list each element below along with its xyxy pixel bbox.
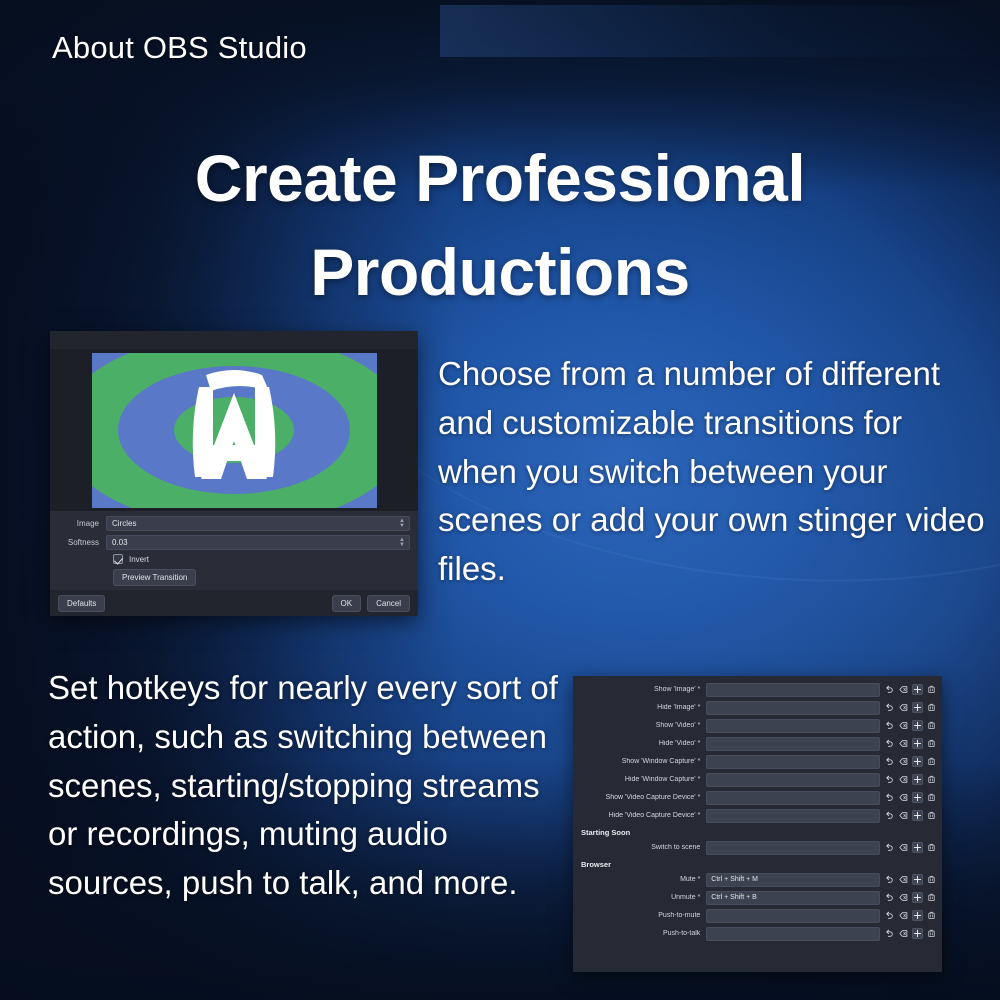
hotkey-input[interactable] (706, 755, 880, 769)
hero-line-2: Productions (0, 226, 1000, 320)
hotkey-section-title: Starting Soon (578, 825, 937, 839)
hotkey-actions (884, 910, 937, 921)
hotkey-input[interactable] (706, 719, 880, 733)
hotkey-label: Push-to-talk (578, 930, 706, 937)
preview-transition-button[interactable]: Preview Transition (113, 569, 196, 586)
spinner-updown-icon[interactable]: ▲▼ (398, 537, 406, 548)
hotkey-actions (884, 842, 937, 853)
clear-icon[interactable] (898, 928, 909, 939)
hotkey-actions (884, 720, 937, 731)
clear-icon[interactable] (898, 738, 909, 749)
add-icon[interactable] (912, 720, 923, 731)
hotkey-input[interactable]: Ctrl + Shift + B (706, 891, 880, 905)
hotkey-row: Unmute *Ctrl + Shift + B (578, 889, 937, 906)
clear-icon[interactable] (898, 842, 909, 853)
revert-icon[interactable] (884, 792, 895, 803)
hotkey-label: Show 'Image' * (578, 686, 706, 693)
softness-row: Softness 0.03 ▲▼ (58, 535, 410, 550)
delete-icon[interactable] (926, 738, 937, 749)
hotkey-label: Hide 'Video' * (578, 740, 706, 747)
delete-icon[interactable] (926, 810, 937, 821)
revert-icon[interactable] (884, 774, 895, 785)
softness-value: 0.03 (112, 538, 128, 547)
add-icon[interactable] (912, 738, 923, 749)
hotkey-actions (884, 892, 937, 903)
hotkey-row: Hide 'Image' * (578, 699, 937, 716)
hotkey-input[interactable] (706, 809, 880, 823)
transition-properties-dialog: Image Circles ▲▼ Softness 0.03 ▲▼ Invert… (50, 331, 418, 616)
clear-icon[interactable] (898, 684, 909, 695)
delete-icon[interactable] (926, 910, 937, 921)
hotkey-row: Hide 'Window Capture' * (578, 771, 937, 788)
hotkey-label: Show 'Video Capture Device' * (578, 794, 706, 801)
softness-label: Softness (58, 538, 106, 547)
delete-icon[interactable] (926, 892, 937, 903)
clear-icon[interactable] (898, 892, 909, 903)
clear-icon[interactable] (898, 810, 909, 821)
image-value: Circles (112, 519, 136, 528)
hotkey-actions (884, 738, 937, 749)
clear-icon[interactable] (898, 702, 909, 713)
hotkey-actions (884, 874, 937, 885)
hotkey-label: Hide 'Image' * (578, 704, 706, 711)
add-icon[interactable] (912, 702, 923, 713)
delete-icon[interactable] (926, 874, 937, 885)
hotkey-actions (884, 702, 937, 713)
clear-icon[interactable] (898, 792, 909, 803)
hotkey-label: Unmute * (578, 894, 706, 901)
add-icon[interactable] (912, 874, 923, 885)
hotkey-label: Show 'Video' * (578, 722, 706, 729)
hotkey-row: Push-to-talk (578, 925, 937, 942)
clear-icon[interactable] (898, 774, 909, 785)
revert-icon[interactable] (884, 910, 895, 921)
hotkey-label: Show 'Window Capture' * (578, 758, 706, 765)
delete-icon[interactable] (926, 842, 937, 853)
add-icon[interactable] (912, 774, 923, 785)
delete-icon[interactable] (926, 702, 937, 713)
image-label: Image (58, 519, 106, 528)
header-highlight-band (440, 5, 1000, 57)
revert-icon[interactable] (884, 810, 895, 821)
preview-letter-a-icon (169, 369, 299, 491)
add-icon[interactable] (912, 892, 923, 903)
invert-row[interactable]: Invert (58, 554, 410, 564)
revert-icon[interactable] (884, 684, 895, 695)
add-icon[interactable] (912, 756, 923, 767)
hotkey-row: Show 'Video Capture Device' * (578, 789, 937, 806)
invert-checkbox[interactable] (113, 554, 123, 564)
transitions-description: Choose from a number of different and cu… (438, 350, 990, 594)
transition-preview-area (50, 349, 418, 511)
hotkey-label: Mute * (578, 876, 706, 883)
hotkey-input[interactable] (706, 927, 880, 941)
hero-line-1: Create Professional (195, 141, 805, 215)
dialog-footer: Defaults OK Cancel (50, 590, 418, 616)
softness-input[interactable]: 0.03 ▲▼ (106, 535, 410, 550)
hotkey-label: Push-to-mute (578, 912, 706, 919)
revert-icon[interactable] (884, 892, 895, 903)
hotkey-row: Show 'Video' * (578, 717, 937, 734)
hotkey-row: Hide 'Video Capture Device' * (578, 807, 937, 824)
revert-icon[interactable] (884, 756, 895, 767)
revert-icon[interactable] (884, 738, 895, 749)
hotkey-actions (884, 810, 937, 821)
delete-icon[interactable] (926, 774, 937, 785)
hotkey-section-title: Browser (578, 857, 937, 871)
hotkeys-description: Set hotkeys for nearly every sort of act… (48, 664, 568, 908)
delete-icon[interactable] (926, 792, 937, 803)
add-icon[interactable] (912, 910, 923, 921)
hotkey-row: Mute *Ctrl + Shift + M (578, 871, 937, 888)
revert-icon[interactable] (884, 702, 895, 713)
add-icon[interactable] (912, 928, 923, 939)
hotkey-actions (884, 928, 937, 939)
cancel-button[interactable]: Cancel (367, 595, 410, 612)
hotkey-input[interactable]: Ctrl + Shift + M (706, 873, 880, 887)
revert-icon[interactable] (884, 842, 895, 853)
hotkey-actions (884, 792, 937, 803)
hotkey-row: Push-to-mute (578, 907, 937, 924)
clear-icon[interactable] (898, 720, 909, 731)
hotkey-input[interactable] (706, 841, 880, 855)
invert-label: Invert (129, 555, 149, 564)
hotkey-input[interactable] (706, 909, 880, 923)
hotkey-row: Switch to scene (578, 839, 937, 856)
delete-icon[interactable] (926, 928, 937, 939)
delete-icon[interactable] (926, 720, 937, 731)
dialog-titlebar (50, 331, 418, 349)
hero-heading: Create Professional Productions (0, 132, 1000, 319)
hotkey-actions (884, 684, 937, 695)
clear-icon[interactable] (898, 756, 909, 767)
hotkey-input[interactable] (706, 791, 880, 805)
hotkey-input[interactable] (706, 773, 880, 787)
hotkey-input[interactable] (706, 683, 880, 697)
delete-icon[interactable] (926, 684, 937, 695)
add-icon[interactable] (912, 810, 923, 821)
hotkey-actions (884, 774, 937, 785)
hotkey-label: Hide 'Window Capture' * (578, 776, 706, 783)
hotkey-row: Hide 'Video' * (578, 735, 937, 752)
hotkey-actions (884, 756, 937, 767)
add-icon[interactable] (912, 792, 923, 803)
hotkey-label: Hide 'Video Capture Device' * (578, 812, 706, 819)
defaults-button[interactable]: Defaults (58, 595, 105, 612)
add-icon[interactable] (912, 842, 923, 853)
page-title: About OBS Studio (52, 30, 307, 66)
revert-icon[interactable] (884, 928, 895, 939)
dialog-form: Image Circles ▲▼ Softness 0.03 ▲▼ Invert… (50, 511, 418, 586)
image-select[interactable]: Circles ▲▼ (106, 516, 410, 531)
hotkey-row: Show 'Window Capture' * (578, 753, 937, 770)
clear-icon[interactable] (898, 910, 909, 921)
revert-icon[interactable] (884, 720, 895, 731)
revert-icon[interactable] (884, 874, 895, 885)
clear-icon[interactable] (898, 874, 909, 885)
hotkey-label: Switch to scene (578, 844, 706, 851)
transition-preview-image (92, 353, 377, 508)
chevron-updown-icon[interactable]: ▲▼ (398, 518, 406, 529)
hotkey-input[interactable] (706, 737, 880, 751)
ok-button[interactable]: OK (332, 595, 362, 612)
image-row: Image Circles ▲▼ (58, 516, 410, 531)
hotkeys-settings-panel: Show 'Image' *Hide 'Image' *Show 'Video'… (573, 676, 942, 972)
hotkey-input[interactable] (706, 701, 880, 715)
dialog-footer-actions: OK Cancel (332, 595, 410, 612)
add-icon[interactable] (912, 684, 923, 695)
hotkey-row: Show 'Image' * (578, 681, 937, 698)
delete-icon[interactable] (926, 756, 937, 767)
